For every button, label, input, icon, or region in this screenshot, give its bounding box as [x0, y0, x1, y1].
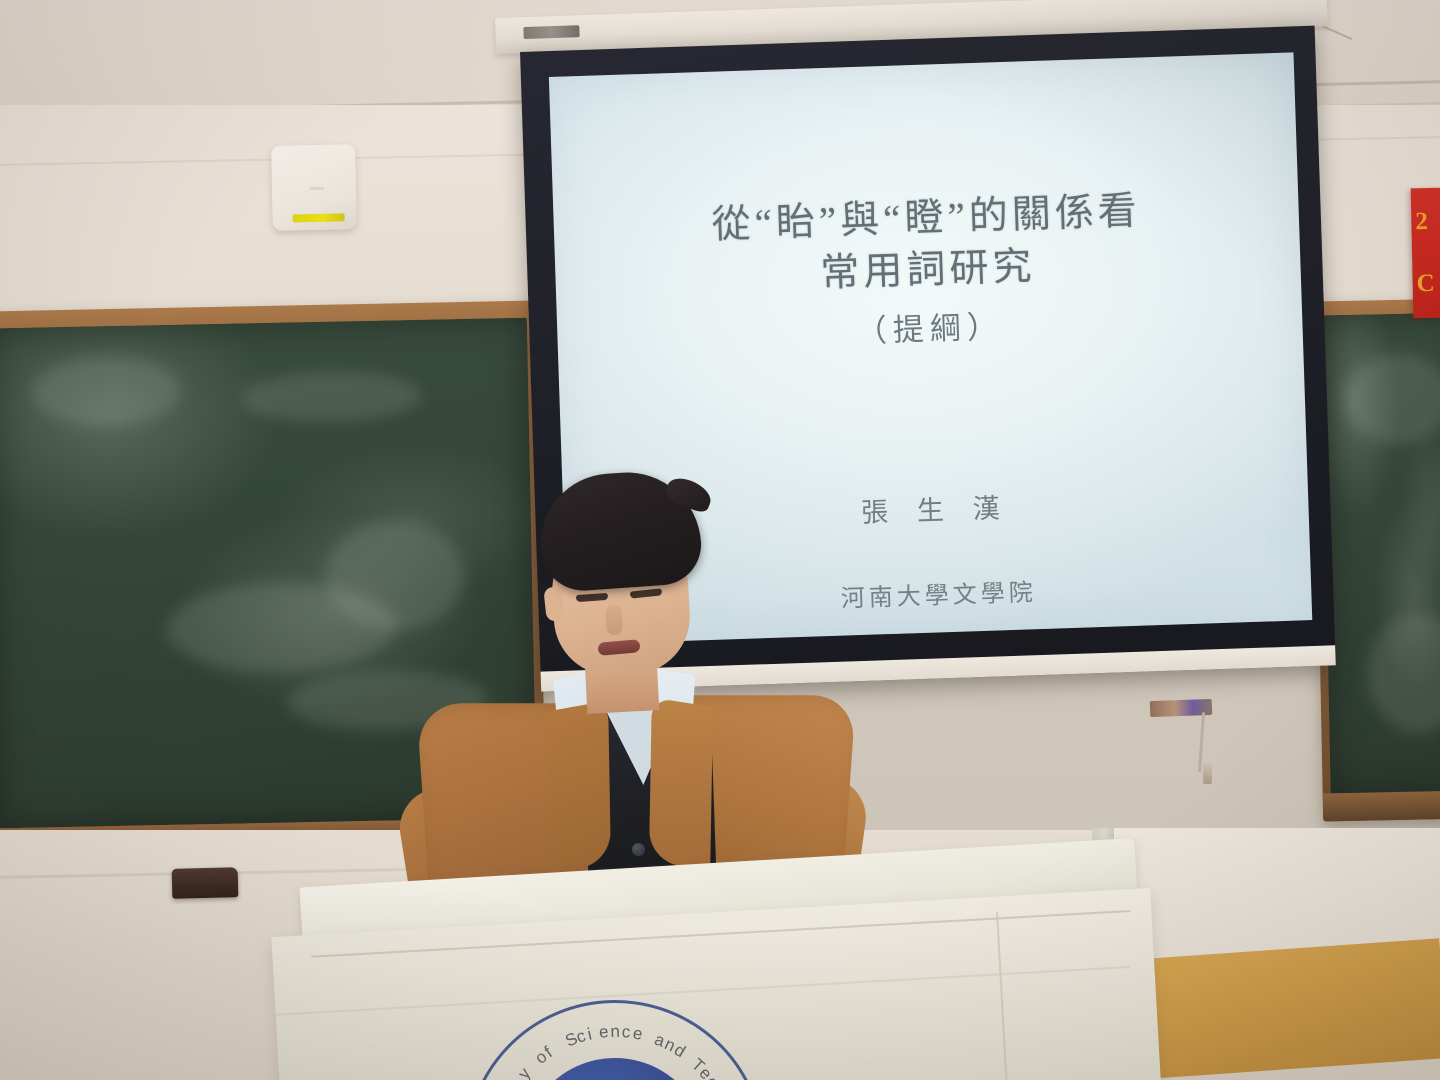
screen-brand-label-icon	[523, 25, 579, 39]
cord-connector-icon	[1203, 762, 1212, 784]
blackboard-surface	[1321, 313, 1440, 796]
slide-author: 張 生 漢	[860, 485, 1011, 529]
lecture-hall-scene: 2 C 從“眙”與“瞪”的關係看 常用詞研究 （提綱） 張 生 漢 河南大學文學…	[0, 0, 1440, 1080]
device-yellow-label	[293, 213, 345, 222]
blackboard-eraser	[172, 867, 239, 899]
slide-subtitle: （提綱）	[855, 301, 1004, 351]
device-vent-icon	[310, 187, 324, 190]
emblem-text-char: y	[514, 1064, 536, 1080]
chalk-smudge	[1342, 353, 1440, 445]
slide-affiliation: 河南大學文學院	[840, 572, 1037, 613]
chalk-smudge	[1367, 613, 1440, 735]
chalk-smudge	[31, 355, 182, 428]
emblem-text-char: e	[598, 1022, 611, 1043]
presenter-nose	[605, 605, 623, 636]
banner-character-1: 2	[1415, 208, 1428, 236]
podium: rsity of Science and Techn	[280, 792, 1160, 1080]
emblem-text-char: c	[621, 1022, 632, 1043]
chalk-ledge	[1323, 790, 1440, 821]
red-banner: 2 C	[1411, 188, 1440, 319]
emblem-text-char: n	[610, 1022, 621, 1042]
chalk-smudge	[241, 370, 422, 424]
emblem-text-char: e	[632, 1024, 645, 1045]
wall-mounted-access-point	[271, 144, 357, 231]
banner-character-2: C	[1416, 270, 1435, 298]
slide-title: 從“眙”與“瞪”的關係看 常用詞研究	[711, 186, 1143, 305]
